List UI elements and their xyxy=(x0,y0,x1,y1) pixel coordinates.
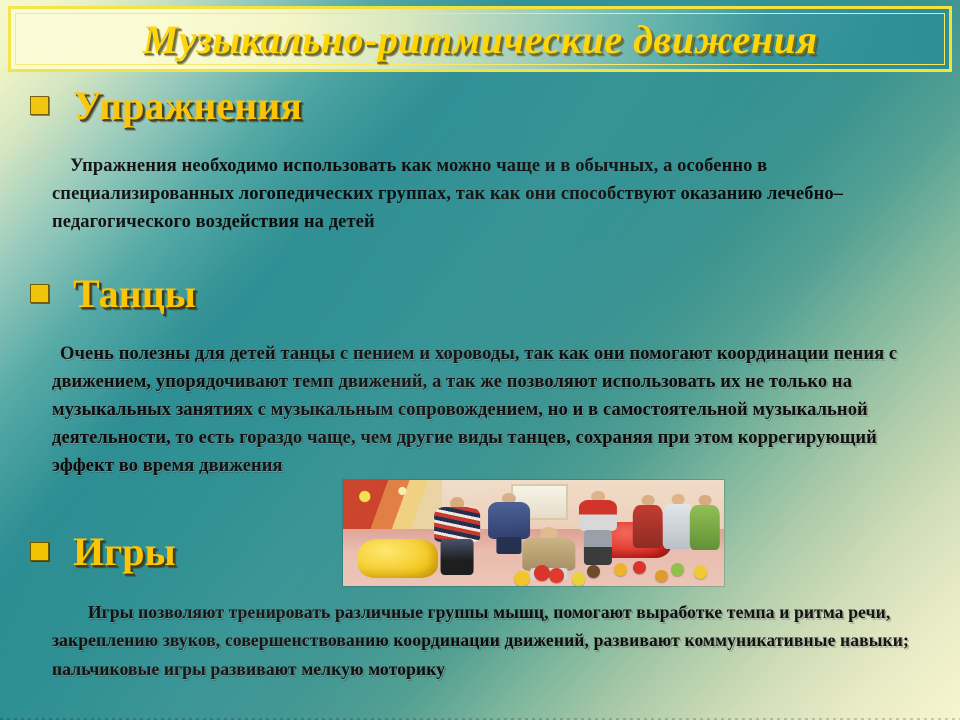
photo-child-legs xyxy=(496,537,521,554)
square-bullet-icon xyxy=(30,284,49,303)
photo-child xyxy=(434,497,480,575)
slide: Музыкально-ритмические движения Упражнен… xyxy=(0,0,960,720)
photo-ball xyxy=(587,565,600,578)
photo-ball xyxy=(549,568,564,583)
slide-title-box: Музыкально-ритмические движения xyxy=(8,6,952,72)
section-heading-dances: Танцы xyxy=(30,270,196,317)
photo-ball xyxy=(694,565,708,579)
section-heading-games: Игры xyxy=(30,528,176,575)
photo-child xyxy=(633,495,663,548)
photo-yellow-toy xyxy=(358,539,438,577)
body-text-exercises: Упражнения необходимо использовать как м… xyxy=(52,152,918,236)
heading-label-exercises: Упражнения xyxy=(73,82,302,129)
photo-ball xyxy=(572,572,586,586)
classroom-photo xyxy=(343,480,724,586)
heading-label-games: Игры xyxy=(73,528,176,575)
photo-child-legs xyxy=(441,539,474,575)
photo-child xyxy=(579,491,617,565)
body-text-games: Игры позволяют тренировать различные гру… xyxy=(52,598,924,683)
section-heading-exercises: Упражнения xyxy=(30,82,302,129)
photo-ball xyxy=(655,570,667,582)
photo-child-body xyxy=(579,500,617,531)
photo-child-body xyxy=(522,538,575,571)
page-title: Музыкально-ритмические движения xyxy=(143,16,818,63)
photo-child-body xyxy=(633,505,663,548)
photo-child xyxy=(690,495,720,550)
heading-label-dances: Танцы xyxy=(73,270,196,317)
photo-ball xyxy=(534,565,550,581)
photo-scene xyxy=(343,480,724,586)
photo-ball xyxy=(514,571,529,586)
photo-child-body xyxy=(434,507,480,542)
square-bullet-icon xyxy=(30,96,49,115)
square-bullet-icon xyxy=(30,542,49,561)
photo-child-legs xyxy=(584,530,612,565)
photo-decor-panel xyxy=(343,480,442,535)
body-text-dances: Очень полезны для детей танцы с пением и… xyxy=(52,340,920,481)
photo-child-body xyxy=(690,505,720,550)
